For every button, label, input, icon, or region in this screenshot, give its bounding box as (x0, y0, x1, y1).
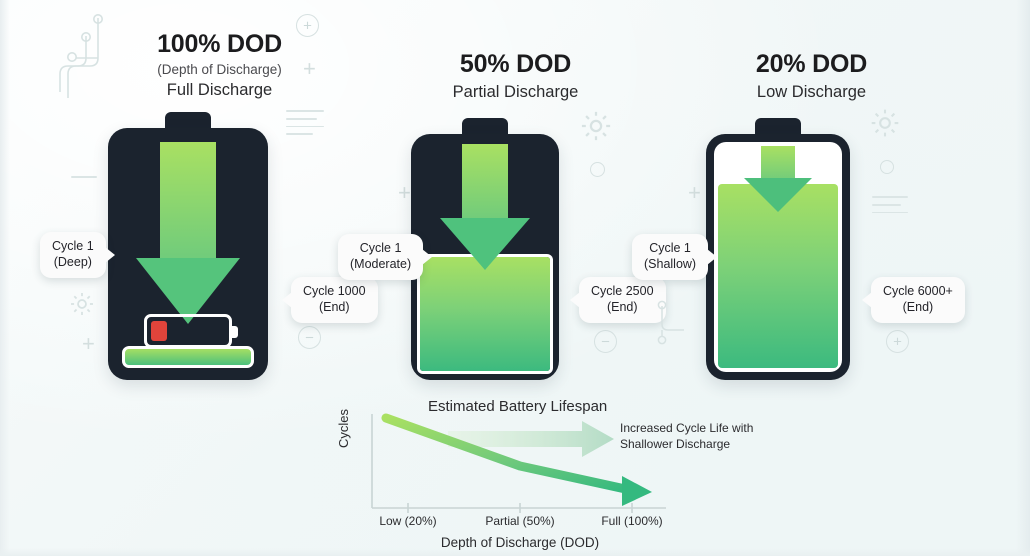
discharge-arrow-icon (438, 144, 532, 262)
callout-cycle-end[interactable]: Cycle 6000+ (End) (871, 277, 965, 323)
chart-series-arrowhead (622, 476, 652, 506)
panel-subtitle: (Depth of Discharge) (48, 62, 391, 77)
battery-body (108, 128, 268, 380)
discharge-arrow-icon (742, 146, 814, 208)
battery-charge-bar (122, 346, 254, 368)
plus-icon: + (82, 333, 95, 355)
plus-icon: + (303, 58, 316, 80)
callout-tail (282, 292, 292, 308)
battery-body (411, 134, 559, 380)
plus-icon: + (398, 182, 411, 204)
callout-tail (862, 292, 872, 308)
dod-panel-100: 100% DOD (Depth of Discharge) Full Disch… (48, 0, 391, 392)
plus-circle-glyph: + (887, 334, 908, 349)
canvas-edge-right (1016, 0, 1030, 556)
gear-icon (868, 106, 902, 140)
canvas-edge-left (0, 0, 10, 556)
battery-inner (714, 142, 842, 372)
panel-header: 100% DOD (Depth of Discharge) Full Disch… (48, 30, 391, 100)
discharge-arrow-icon (136, 142, 240, 324)
callout-line1: Cycle 6000+ (883, 284, 953, 298)
text-lines-icon (872, 196, 908, 219)
battery-body (706, 134, 850, 380)
battery-graphic (108, 112, 268, 380)
dod-panel-20: 20% DOD Low Discharge + + (640, 0, 983, 392)
text-lines-icon (286, 110, 324, 141)
plus-circle-icon: + (886, 330, 909, 353)
panel-caption: Full Discharge (48, 81, 391, 100)
battery-graphic (411, 118, 559, 380)
lifespan-chart: Estimated Battery Lifespan Cycles (330, 390, 800, 556)
text-lines-icon (71, 176, 97, 184)
chart-plot (330, 390, 800, 556)
chart-xlabel: Depth of Discharge (DOD) (330, 535, 710, 550)
minus-circle-icon: − (594, 330, 617, 353)
dot-circle-icon (590, 162, 605, 177)
minus-circle-glyph: − (595, 334, 616, 349)
panel-header: 50% DOD Partial Discharge (344, 50, 687, 102)
panel-title: 100% DOD (48, 30, 391, 59)
callout-line2: (Deep) (52, 255, 94, 271)
panel-caption: Low Discharge (640, 83, 983, 102)
chart-xtick-2: Full (100%) (601, 514, 662, 528)
chart-xtick-1: Partial (50%) (485, 514, 554, 528)
minus-circle-icon: − (298, 326, 321, 349)
battery-fill-level (420, 257, 550, 371)
panel-title: 20% DOD (640, 50, 983, 79)
panel-caption: Partial Discharge (344, 83, 687, 102)
callout-line1: Cycle 1 (649, 241, 691, 255)
callout-tail (422, 249, 432, 265)
dod-panel-50: 50% DOD Partial Discharge + − (344, 0, 687, 392)
callout-cycle-start[interactable]: Cycle 1 (Moderate) (338, 234, 423, 280)
callout-line1: Cycle 1 (360, 241, 402, 255)
callout-tail (105, 247, 115, 263)
callout-line2: (Moderate) (350, 257, 411, 273)
callout-line2: (Shallow) (644, 257, 696, 273)
gear-icon (578, 108, 614, 144)
panel-header: 20% DOD Low Discharge (640, 50, 983, 102)
circuit-trace-icon (656, 300, 696, 350)
chart-xtick-0: Low (20%) (379, 514, 436, 528)
low-battery-icon (144, 314, 232, 348)
minus-circle-glyph: − (299, 330, 320, 345)
infographic-canvas: 100% DOD (Depth of Discharge) Full Disch… (0, 0, 1030, 556)
chart-annotation: Increased Cycle Life with Shallower Disc… (620, 420, 770, 452)
plus-circle-glyph: + (297, 18, 318, 33)
dot-circle-icon (880, 160, 894, 174)
callout-line2: (End) (883, 300, 953, 316)
battery-graphic (706, 118, 850, 380)
panel-title: 50% DOD (344, 50, 687, 79)
gear-icon (68, 290, 96, 318)
plus-circle-icon: + (296, 14, 319, 37)
callout-cycle-start[interactable]: Cycle 1 (Shallow) (632, 234, 708, 280)
callout-tail (707, 249, 717, 265)
callout-line1: Cycle 1 (52, 239, 94, 253)
plus-icon: + (688, 182, 701, 204)
callout-cycle-start[interactable]: Cycle 1 (Deep) (40, 232, 106, 278)
callout-tail (570, 292, 580, 308)
